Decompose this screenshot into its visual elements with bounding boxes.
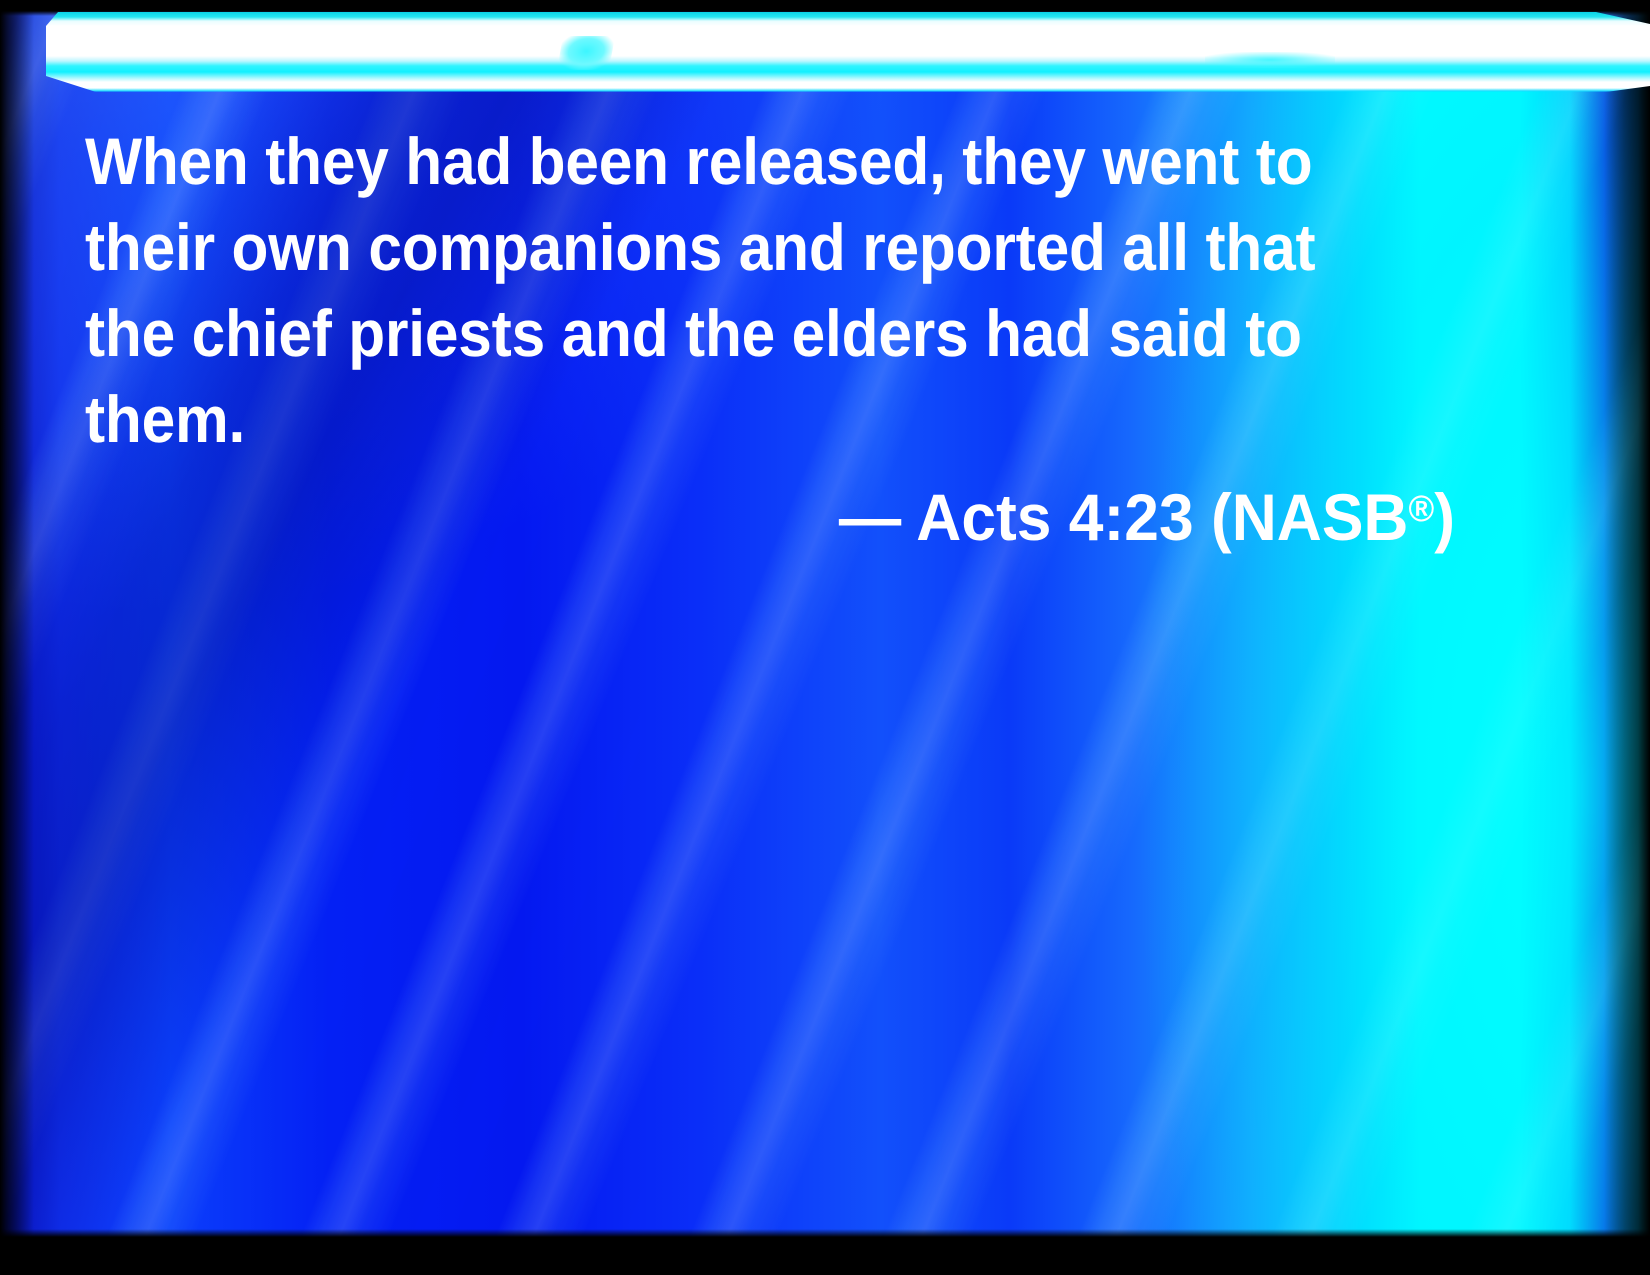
bible-verse-slide: When they had been released, they went t… — [0, 0, 1650, 1275]
attribution-reference: 4:23 — [1069, 480, 1194, 554]
attribution-dash: — — [839, 480, 901, 554]
verse-attribution: — Acts 4:23 (NASB®) — [160, 466, 1455, 560]
banner-white-bar — [0, 12, 1650, 92]
registered-trademark-icon: ® — [1408, 488, 1434, 529]
attribution-book: Acts — [916, 480, 1051, 554]
verse-text: When they had been released, they went t… — [85, 118, 1339, 462]
banner-cyan-highlight — [557, 36, 615, 70]
banner-cyan-streak — [1205, 52, 1335, 68]
verse-block: When they had been released, they went t… — [85, 118, 1455, 462]
attribution-translation-close: ) — [1434, 480, 1455, 554]
decorative-top-banner — [0, 12, 1650, 92]
attribution-translation-open: (NASB — [1211, 480, 1409, 554]
